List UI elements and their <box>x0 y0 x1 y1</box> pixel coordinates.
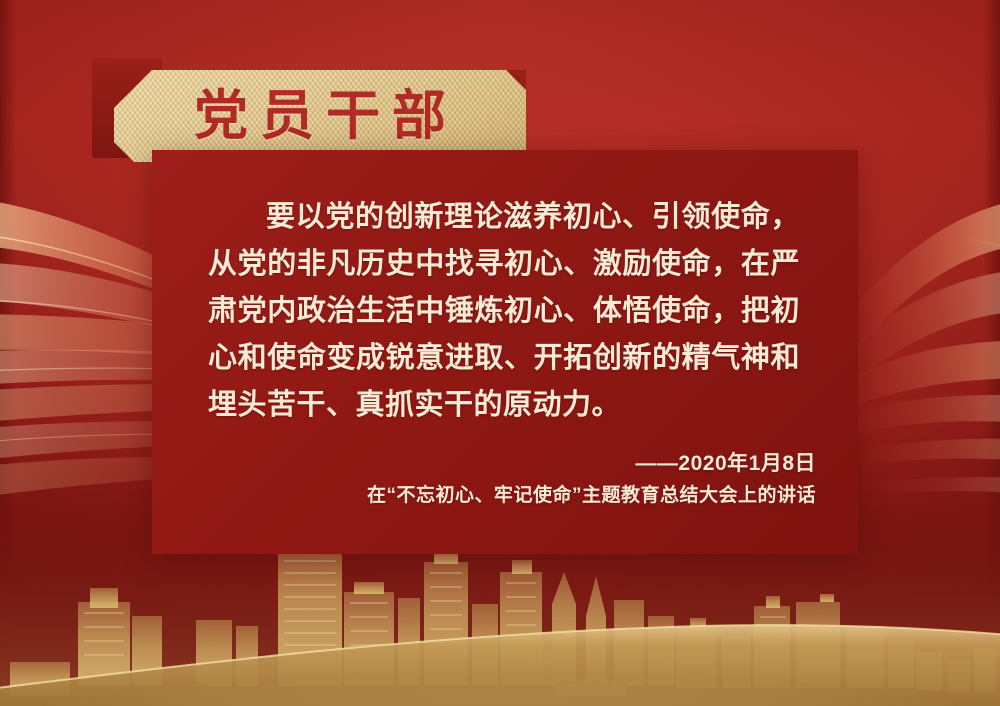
attribution-source: 在“不忘初心、牢记使命”主题教育总结大会上的讲话 <box>367 480 816 512</box>
quote-card: 要以党的创新理论滋养初心、引领使命，从党的非凡历史中找寻初心、激励使命，在严肃党… <box>152 150 858 554</box>
attribution-date: ——2020年1月8日 <box>367 448 816 480</box>
right-edge-shade <box>984 0 1000 706</box>
attribution: ——2020年1月8日 在“不忘初心、牢记使命”主题教育总结大会上的讲话 <box>367 448 816 512</box>
poster-canvas: 党员干部 要以党的创新理论滋养初心、引领使命，从党的非凡历史中找寻初心、激励使命… <box>0 0 1000 706</box>
banner-gold-plate: 党员干部 <box>114 70 526 162</box>
left-edge-shade <box>0 0 16 706</box>
quote-text: 要以党的创新理论滋养初心、引领使命，从党的非凡历史中找寻初心、激励使命，在严肃党… <box>208 194 800 429</box>
banner-title: 党员干部 <box>182 89 458 143</box>
